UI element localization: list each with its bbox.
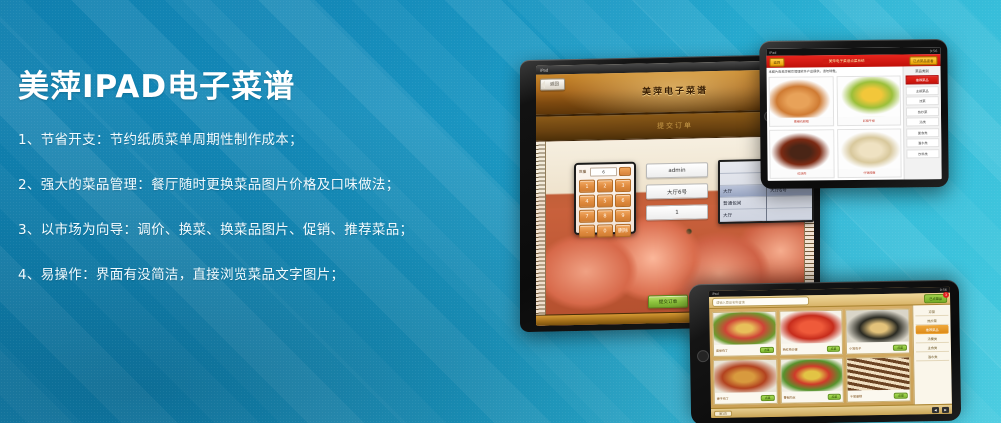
- dish-card-footer: 宫保鸡丁 点菜: [714, 344, 776, 356]
- tablet-bottom-right-device: iPad 9:56 请输入菜品名称查询 已点菜品 3 宫保鸡丁: [689, 280, 961, 423]
- tablet-bottom-right-screen: iPad 9:56 请输入菜品名称查询 已点菜品 3 宫保鸡丁: [709, 287, 952, 418]
- sidebar-item-alcohol[interactable]: 酒水类: [916, 352, 949, 362]
- dish-photo: [837, 77, 900, 117]
- add-dish-button[interactable]: 点菜: [760, 346, 774, 352]
- dish-card[interactable]: 小笼包子 点菜: [846, 309, 910, 355]
- dish-card-footer: 千层蛋糕 点菜: [848, 390, 910, 402]
- dish-grid-panel: 宫保鸡丁 点菜 西红柿炒蛋 点菜: [709, 305, 914, 408]
- dish-card-footer: 小笼包子 点菜: [847, 342, 909, 354]
- dish-grid: 香辣鸡翅根 彩椒牛柳 红烧肉 什锦捞面: [769, 76, 902, 179]
- dish-photo: [714, 360, 776, 393]
- add-dish-button[interactable]: 点菜: [893, 344, 907, 350]
- dish-grid: 宫保鸡丁 点菜 西红柿炒蛋 点菜: [712, 309, 911, 405]
- dish-name: 宫保鸡丁: [716, 348, 728, 352]
- username-field[interactable]: admin: [646, 162, 708, 178]
- table-row[interactable]: [720, 161, 766, 174]
- add-dish-button[interactable]: 点菜: [827, 345, 841, 351]
- dish-photo: [838, 129, 901, 169]
- dish-photo: [770, 77, 833, 117]
- add-dish-button[interactable]: 点菜: [827, 393, 841, 399]
- app-body: 宫保鸡丁 点菜 西红柿炒蛋 点菜: [709, 305, 952, 408]
- dish-name: 小笼包子: [849, 346, 861, 350]
- keypad-key[interactable]: 1: [579, 180, 595, 193]
- sidebar-item-recommended[interactable]: 推荐菜品: [906, 75, 939, 84]
- keypad-key[interactable]: 2: [597, 179, 613, 192]
- add-dish-button[interactable]: 点菜: [761, 394, 775, 400]
- sidebar-title: 菜品类别: [906, 68, 939, 73]
- table-row[interactable]: 普通包间: [720, 197, 766, 210]
- cart-button[interactable]: 已点菜品 3: [924, 294, 947, 303]
- dish-card[interactable]: 香辣鸡翅根: [769, 76, 834, 126]
- dish-name: 红烧肉: [771, 169, 834, 178]
- category-sidebar: 菜品类别 推荐菜品 主题菜品 凉菜 热炒菜 汤类 面食类 酒水类 饮料类: [903, 66, 942, 179]
- prev-page-icon[interactable]: ◀: [932, 407, 939, 413]
- dish-card-footer: 西红柿炒蛋 点菜: [780, 343, 842, 355]
- keypad-key[interactable]: 4: [579, 195, 595, 208]
- dish-name: 什锦捞面: [838, 169, 901, 178]
- keypad-key[interactable]: .: [579, 225, 595, 238]
- table-field[interactable]: 大厅6号: [646, 183, 708, 199]
- numeric-keypad[interactable]: 数量 6 1 2 3 4 5 6 7 8 9 .: [574, 162, 636, 235]
- sidebar-item-drinks[interactable]: 饮料类: [906, 149, 939, 158]
- table-row[interactable]: 大厅: [720, 185, 766, 198]
- dish-photo: [713, 312, 775, 345]
- dish-photo: [770, 130, 833, 170]
- app-title: 美萍电子菜谱点菜系统: [823, 58, 871, 64]
- dish-grid-panel: 本图片由美萍餐饮管理软件产品提供，请勿转载。 香辣鸡翅根 彩椒牛柳 红烧肉: [767, 66, 904, 180]
- dish-card-footer: 青椒肉丝 点菜: [781, 391, 843, 403]
- category-sidebar: 凉菜 热炒菜 推荐菜品 汤羹类 主食类 酒水类: [912, 305, 952, 405]
- search-input[interactable]: 请输入菜品名称查询: [712, 296, 809, 307]
- cart-badge: 3: [943, 292, 949, 298]
- keypad-grid: 1 2 3 4 5 6 7 8 9 . 0 删除: [579, 179, 631, 238]
- table-row[interactable]: [720, 173, 766, 186]
- ornament-border-left: [536, 142, 546, 326]
- list-item: 3、以市场为向导：调价、换菜、换菜品图片、促销、推荐菜品；: [18, 220, 488, 240]
- dish-photo: [780, 311, 842, 344]
- status-carrier: iPad: [540, 68, 548, 73]
- keypad-key[interactable]: 7: [579, 210, 595, 223]
- dish-card-footer: 辣子鸡丁 点菜: [715, 392, 777, 404]
- dish-card[interactable]: 宫保鸡丁 点菜: [712, 311, 776, 357]
- next-page-icon[interactable]: ▶: [942, 406, 949, 412]
- dish-name: 西红柿炒蛋: [783, 347, 798, 351]
- view-cart-button[interactable]: 已点菜品查看: [909, 56, 937, 65]
- submit-order-button[interactable]: 提交订单: [648, 295, 688, 309]
- dish-name: 青椒肉丝: [783, 395, 795, 399]
- tablet-top-right-screen: iPad 9:56 返回 美萍电子菜谱点菜系统 已点菜品查看 本图片由美萍餐饮管…: [766, 47, 941, 181]
- dish-name: 彩椒牛柳: [838, 116, 901, 125]
- dish-card[interactable]: 千层蛋糕 点菜: [846, 357, 910, 403]
- sidebar-item-soup[interactable]: 汤类: [906, 117, 939, 126]
- pagination-controls: ◀ ▶: [932, 406, 949, 412]
- backspace-icon[interactable]: [619, 167, 631, 176]
- dish-name: 千层蛋糕: [850, 394, 862, 398]
- keypad-input[interactable]: 6: [590, 167, 617, 177]
- back-button[interactable]: 返回: [769, 57, 784, 66]
- keypad-key[interactable]: 6: [615, 194, 631, 207]
- dish-photo: [847, 310, 909, 343]
- promo-banner: 美萍IPAD电子菜谱 1、节省开支：节约纸质菜单周期性制作成本； 2、强大的菜品…: [0, 0, 1001, 423]
- login-fields: admin 大厅6号 1: [646, 162, 708, 226]
- list-item: 1、节省开支：节约纸质菜单周期性制作成本；: [18, 130, 488, 150]
- dish-photo: [781, 359, 843, 392]
- keypad-display: 数量 6: [579, 167, 631, 177]
- sidebar-item-cold[interactable]: 凉菜: [906, 96, 939, 105]
- keypad-key[interactable]: 9: [615, 209, 631, 222]
- table-column-left: 大厅 普通包间 大厅: [720, 161, 766, 222]
- sidebar-item-noodles[interactable]: 面食类: [906, 128, 939, 137]
- list-item: 4、易操作：界面有没简洁，直接浏览菜品文字图片；: [18, 265, 488, 285]
- app-body: 本图片由美萍餐饮管理软件产品提供，请勿转载。 香辣鸡翅根 彩椒牛柳 红烧肉: [767, 66, 942, 181]
- status-carrier: iPad: [769, 50, 776, 54]
- keypad-key[interactable]: 8: [597, 209, 613, 222]
- cart-label: 已点菜品: [929, 297, 942, 301]
- page-indicator: 第1页: [714, 410, 732, 416]
- promo-copy: 美萍IPAD电子菜谱 1、节省开支：节约纸质菜单周期性制作成本； 2、强大的菜品…: [18, 66, 488, 310]
- table-row[interactable]: 大厅: [720, 209, 766, 222]
- keypad-key[interactable]: 删除: [615, 224, 631, 237]
- dish-card[interactable]: 彩椒牛柳: [836, 76, 901, 126]
- dish-name: 辣子鸡丁: [717, 396, 729, 400]
- sidebar-item-featured[interactable]: 主题菜品: [906, 86, 939, 95]
- table-row[interactable]: [767, 208, 812, 221]
- dish-photo: [847, 358, 909, 391]
- keypad-key[interactable]: 5: [597, 194, 613, 207]
- table-row[interactable]: [767, 196, 812, 209]
- page-title: 美萍IPAD电子菜谱: [18, 66, 488, 108]
- dish-card[interactable]: 什锦捞面: [837, 128, 902, 178]
- dish-card[interactable]: 辣子鸡丁 点菜: [713, 359, 777, 405]
- dish-name: 香辣鸡翅根: [770, 117, 833, 126]
- count-field[interactable]: 1: [646, 204, 708, 220]
- dish-card[interactable]: 红烧肉: [769, 129, 834, 179]
- status-carrier: iPad: [712, 292, 719, 296]
- tablet-top-right-device: iPad 9:56 返回 美萍电子菜谱点菜系统 已点菜品查看 本图片由美萍餐饮管…: [759, 39, 949, 189]
- add-dish-button[interactable]: 点菜: [894, 392, 908, 398]
- keypad-key[interactable]: 3: [615, 179, 631, 192]
- dish-card[interactable]: 青椒肉丝 点菜: [780, 358, 844, 404]
- dish-card[interactable]: 西红柿炒蛋 点菜: [779, 310, 843, 356]
- list-item: 2、强大的菜品管理：餐厅随时更换菜品图片价格及口味做法；: [18, 175, 488, 195]
- sidebar-item-stirfry[interactable]: 热炒菜: [906, 107, 939, 116]
- keypad-key[interactable]: 0: [597, 224, 613, 237]
- status-time: 9:56: [930, 49, 938, 53]
- notice-text: 本图片由美萍餐饮管理软件产品提供，请勿转载。: [769, 69, 901, 75]
- feature-list: 1、节省开支：节约纸质菜单周期性制作成本； 2、强大的菜品管理：餐厅随时更换菜品…: [18, 130, 488, 285]
- sidebar-item-alcohol[interactable]: 酒水类: [906, 138, 939, 147]
- home-button-icon[interactable]: [697, 350, 709, 362]
- keypad-label: 数量: [579, 170, 588, 175]
